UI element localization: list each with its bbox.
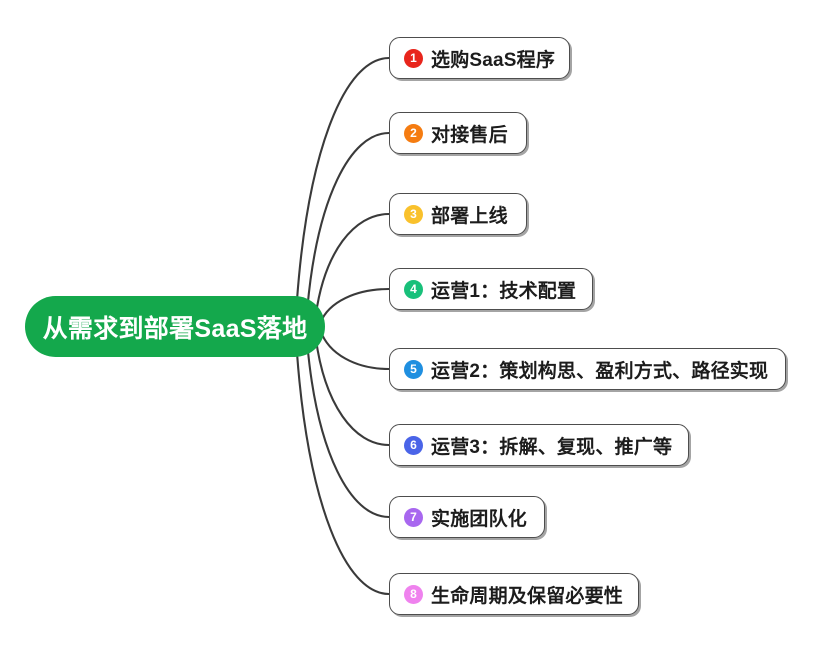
branch-label-1: 选购SaaS程序 — [431, 45, 555, 72]
branch-node-4[interactable]: 4 运营1：技术配置 — [389, 268, 593, 310]
connector-2 — [307, 133, 389, 308]
root-node[interactable]: 从需求到部署SaaS落地 — [25, 296, 325, 357]
branch-node-3[interactable]: 3 部署上线 — [389, 193, 527, 235]
connector-6 — [316, 338, 389, 445]
branch-label-7: 实施团队化 — [431, 504, 527, 531]
branch-node-8[interactable]: 8 生命周期及保留必要性 — [389, 573, 639, 615]
branch-badge-8: 8 — [404, 585, 423, 604]
connector-7 — [307, 345, 389, 517]
branch-badge-6: 6 — [404, 436, 423, 455]
branch-badge-7: 7 — [404, 508, 423, 527]
branch-label-5: 运营2：策划构思、盈利方式、路径实现 — [431, 356, 768, 383]
root-node-label: 从需求到部署SaaS落地 — [43, 309, 308, 345]
branch-badge-4: 4 — [404, 280, 423, 299]
branch-label-8: 生命周期及保留必要性 — [431, 581, 623, 608]
connector-3 — [316, 214, 389, 315]
branch-label-4: 运营1：技术配置 — [431, 276, 576, 303]
branch-node-2[interactable]: 2 对接售后 — [389, 112, 527, 154]
connector-4 — [320, 289, 389, 323]
branch-badge-5: 5 — [404, 360, 423, 379]
branch-node-1[interactable]: 1 选购SaaS程序 — [389, 37, 570, 79]
branch-badge-2: 2 — [404, 124, 423, 143]
connector-5 — [320, 330, 389, 369]
branch-label-6: 运营3：拆解、复现、推广等 — [431, 432, 672, 459]
branch-label-3: 部署上线 — [431, 201, 508, 228]
branch-node-6[interactable]: 6 运营3：拆解、复现、推广等 — [389, 424, 689, 466]
mindmap-canvas: 从需求到部署SaaS落地 1 选购SaaS程序 2 对接售后 3 部署上线 4 … — [0, 0, 818, 661]
branch-node-7[interactable]: 7 实施团队化 — [389, 496, 545, 538]
branch-node-5[interactable]: 5 运营2：策划构思、盈利方式、路径实现 — [389, 348, 786, 390]
branch-badge-1: 1 — [404, 49, 423, 68]
branch-badge-3: 3 — [404, 205, 423, 224]
connector-1 — [297, 58, 389, 300]
connector-8 — [297, 353, 389, 594]
branch-label-2: 对接售后 — [431, 120, 508, 147]
